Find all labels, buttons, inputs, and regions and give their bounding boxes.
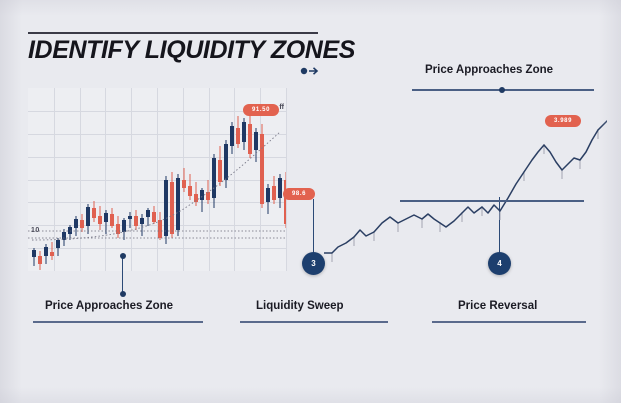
- zone-marker-dot: [499, 87, 505, 93]
- price-badge-1: 91.50: [243, 104, 279, 116]
- title-rule: [28, 32, 318, 34]
- axis-tick-label-right: ff: [279, 104, 284, 111]
- axis-tick-label-10: 10: [31, 227, 40, 234]
- connector-dot-top: [120, 253, 126, 259]
- caption-rule-1: [33, 321, 203, 323]
- line-chart-panel: [322, 80, 607, 270]
- caption-rule-3: [432, 321, 586, 323]
- caption-price-approaches-zone: Price Approaches Zone: [45, 300, 173, 312]
- caption-price-reversal: Price Reversal: [458, 300, 537, 312]
- zone-line-lower: [400, 200, 584, 202]
- caption-liquidity-sweep: Liquidity Sweep: [256, 300, 344, 312]
- connector-line-1: [122, 256, 123, 294]
- connector-dot-bottom: [120, 291, 126, 297]
- connector-line-2: [313, 199, 314, 257]
- cursor-arrow-icon: [300, 64, 320, 76]
- caption-rule-2: [240, 321, 388, 323]
- slide-canvas: IDENTIFY LIQUIDITY ZONES 10 ff 91.50 98.…: [0, 0, 621, 403]
- annotation-price-approaches-zone: Price Approaches Zone: [425, 64, 553, 76]
- price-zigzag-series: [322, 80, 607, 270]
- page-title: IDENTIFY LIQUIDITY ZONES: [28, 36, 355, 65]
- price-badge-2: 98.6: [283, 188, 315, 200]
